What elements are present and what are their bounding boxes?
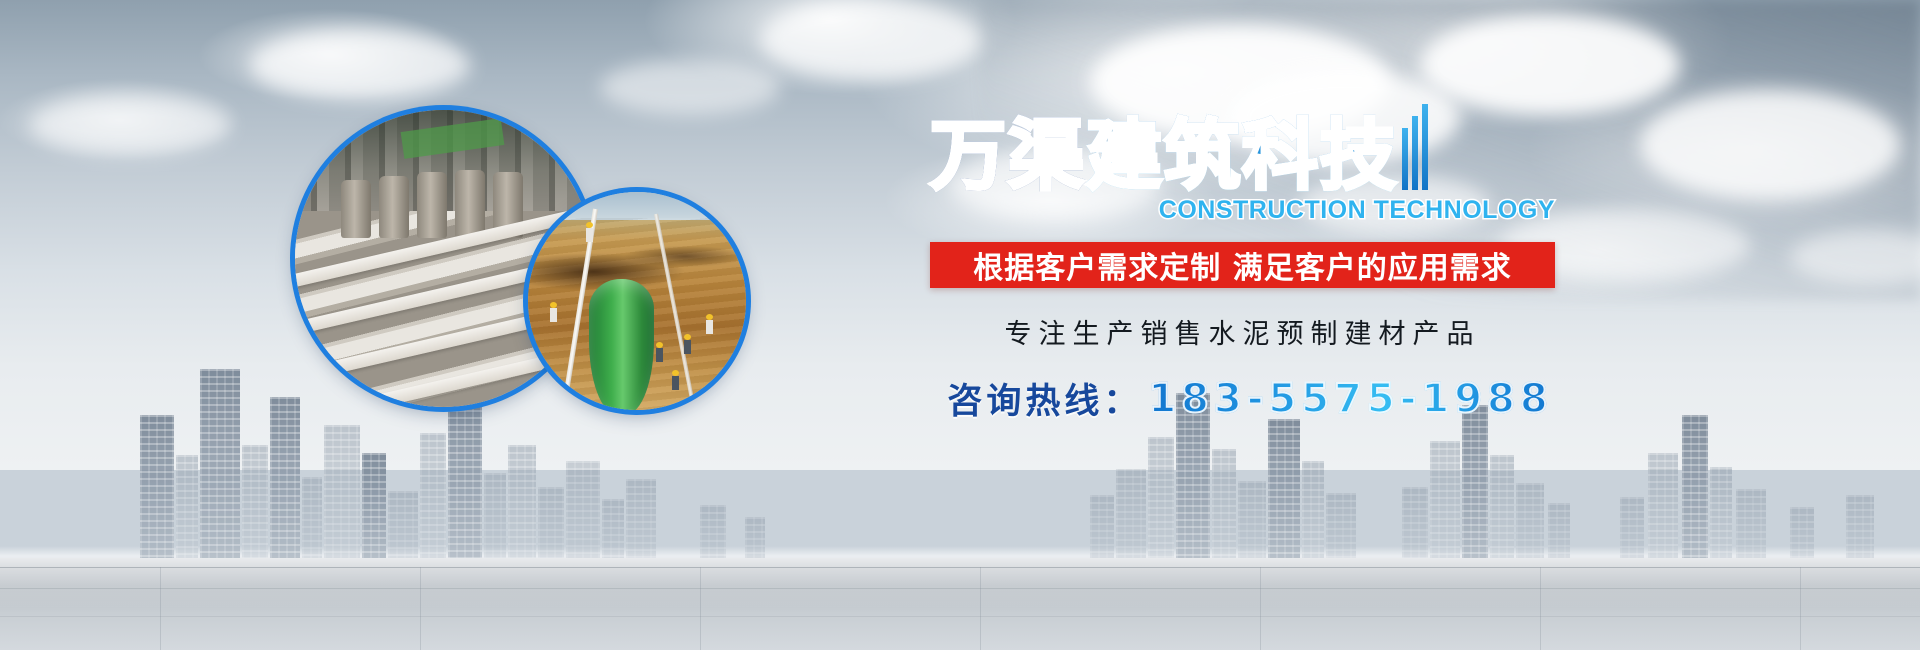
ground-seam [980,567,981,650]
photo-image [589,279,654,410]
cloud [600,60,780,115]
tagline: 专注生产销售水泥预制建材产品 [930,312,1555,351]
cloud [760,0,980,80]
brand-name: 万渠建筑科技 [930,118,1398,194]
cloud [1640,90,1900,200]
marketing-copy: 万渠建筑科技 CONSTRUCTION TECHNOLOGY 根据客户需求定制 … [930,118,1590,424]
brand-bars-decoration [1402,104,1428,190]
ground-seam [420,567,421,650]
brand-name-part2: 建筑科技 [1086,111,1398,200]
slogan-text: 根据客户需求定制 满足客户的应用需求 [973,243,1511,287]
slogan-bar: 根据客户需求定制 满足客户的应用需求 [930,242,1555,288]
brand-english-subtitle: CONSTRUCTION TECHNOLOGY [930,196,1555,225]
cloud [1420,15,1680,115]
ground-seam [0,616,1920,617]
ground-seam [1260,567,1261,650]
hotline: 咨询热线： 183-5575-1988 [930,373,1570,424]
cloud [30,95,230,155]
hotline-number[interactable]: 183-5575-1988 [1148,376,1552,422]
ground-seam [1800,567,1801,650]
paved-ground [0,558,1920,650]
product-photo-tank-site [528,192,746,410]
brand-title: 万渠建筑科技 [930,118,1398,194]
promo-banner: 万渠建筑科技 CONSTRUCTION TECHNOLOGY 根据客户需求定制 … [0,0,1920,650]
brand-name-part1: 万渠 [930,111,1086,200]
cloud [250,30,470,100]
photo-image [528,192,746,220]
ground-seam [0,588,1920,589]
ground-reflection [0,558,1920,650]
ground-seam [160,567,161,650]
ground-seam [1540,567,1541,650]
hotline-label: 咨询热线： [947,373,1142,424]
ground-seam [700,567,701,650]
ground-seam [0,567,1920,568]
